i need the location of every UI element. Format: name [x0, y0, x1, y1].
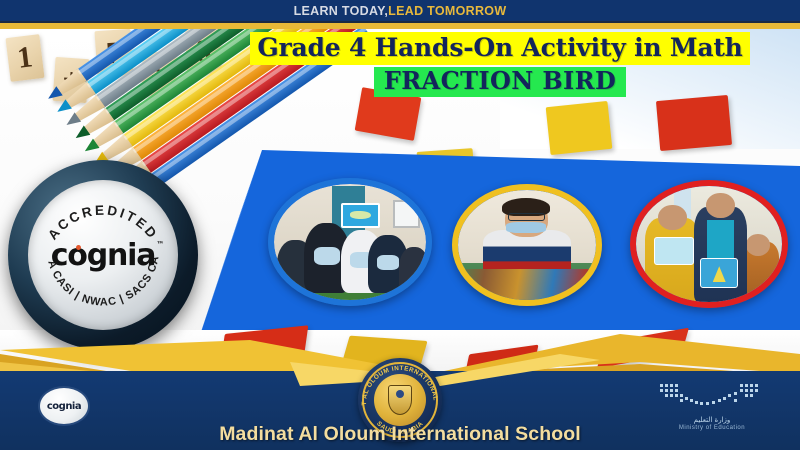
poster-canvas: 1 + 7 = 8 [0, 0, 800, 450]
top-divider-line [0, 21, 800, 23]
activity-photo-3[interactable] [630, 180, 788, 308]
poster-title-block: Grade 4 Hands-On Activity in Math FRACTI… [210, 32, 790, 97]
top-gold-stripe [0, 22, 800, 29]
top-tagline-bar: LEARN TODAY,LEAD TOMORROW [0, 0, 800, 22]
crest-center-emblem [374, 374, 426, 426]
cognia-footer-logo: cognia [38, 386, 90, 426]
tagline: LEARN TODAY,LEAD TOMORROW [294, 4, 507, 18]
crest-shield-icon [388, 385, 412, 415]
activity-photo-1[interactable] [268, 178, 432, 306]
page-subtitle: FRACTION BIRD [374, 67, 626, 97]
moe-dot-pattern-icon [656, 382, 768, 408]
cognia-footer-label: cognia [47, 401, 81, 412]
tagline-part-2: LEAD TOMORROW [388, 4, 506, 18]
school-name-footer: Madinat Al Oloum International School [0, 423, 800, 446]
cognia-wordmark: cognia ™ [51, 238, 156, 273]
cognia-wordmark-text: cognia [51, 238, 156, 273]
page-title: Grade 4 Hands-On Activity in Math [250, 32, 749, 65]
trademark-symbol: ™ [156, 240, 164, 249]
paper-square-yellow-2 [546, 101, 613, 155]
activity-photo-2[interactable] [452, 184, 602, 306]
cognia-dot-icon [76, 245, 81, 250]
tagline-part-1: LEARN TODAY, [294, 4, 389, 18]
paper-square-red-2 [656, 95, 732, 151]
